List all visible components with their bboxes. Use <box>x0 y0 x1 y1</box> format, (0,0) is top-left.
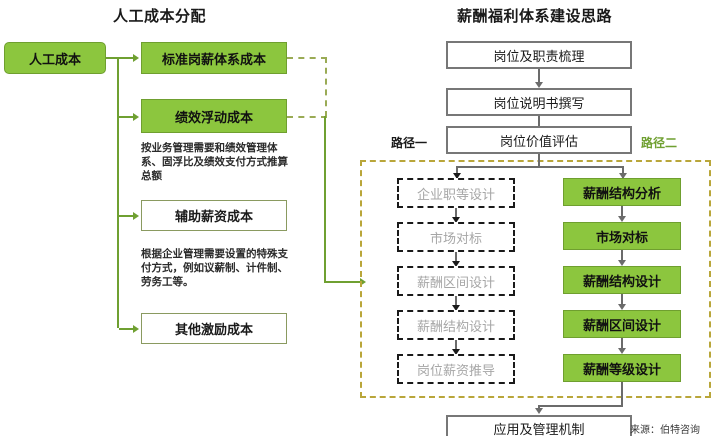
node-other-incentive-cost[interactable]: 其他激励成本 <box>141 313 287 344</box>
label-path-two: 路径二 <box>641 134 677 151</box>
bridge-solid-horizontal <box>324 281 362 283</box>
node-p2-salary-range-design[interactable]: 薪酬区间设计 <box>563 310 681 338</box>
bridge-dash-top <box>287 57 327 59</box>
node-p1-enterprise-grade-design[interactable]: 企业职等设计 <box>397 178 515 208</box>
node-p1-salary-structure-design[interactable]: 薪酬结构设计 <box>397 310 515 340</box>
arrow-right-icon <box>133 113 139 121</box>
node-p1-market-benchmark[interactable]: 市场对标 <box>397 222 515 252</box>
node-p2-salary-structure-analysis[interactable]: 薪酬结构分析 <box>563 178 681 206</box>
node-auxiliary-salary-cost[interactable]: 辅助薪资成本 <box>141 200 287 231</box>
bridge-dash-vertical <box>325 57 327 117</box>
node-job-value-evaluation[interactable]: 岗位价值评估 <box>446 126 632 154</box>
node-p2-market-benchmark[interactable]: 市场对标 <box>563 222 681 250</box>
arrow-right-icon <box>133 325 139 333</box>
node-job-description-writing[interactable]: 岗位说明书撰写 <box>446 88 632 116</box>
node-p1-salary-range-design[interactable]: 薪酬区间设计 <box>397 266 515 296</box>
arrow-down-icon <box>535 408 543 414</box>
connector-split-bar <box>456 166 624 168</box>
note-performance-cost: 按业务管理需要和绩效管理体系、固浮比及绩效支付方式推算总额 <box>141 141 291 184</box>
arrow-right-icon <box>133 212 139 220</box>
bridge-solid-vertical <box>324 116 326 283</box>
node-application-management-mechanism[interactable]: 应用及管理机制 <box>446 415 632 436</box>
attribution-text: 来源：伯特咨询 <box>630 421 700 436</box>
connector-merge-down <box>621 382 623 406</box>
connector-root-trunk <box>117 57 119 328</box>
node-p2-salary-grade-design[interactable]: 薪酬等级设计 <box>563 354 681 382</box>
node-labor-cost-root[interactable]: 人工成本 <box>4 42 106 74</box>
node-performance-variable-cost[interactable]: 绩效浮动成本 <box>141 99 287 133</box>
connector-merge-left <box>538 405 623 407</box>
note-auxiliary-cost: 根据企业管理需要设置的特殊支付方式，例如议薪制、计件制、劳务工等。 <box>141 247 293 290</box>
label-path-one: 路径一 <box>391 134 427 151</box>
node-standard-post-salary-cost[interactable]: 标准岗薪体系成本 <box>141 42 287 74</box>
node-p2-salary-structure-design[interactable]: 薪酬结构设计 <box>563 266 681 294</box>
node-post-duty-review[interactable]: 岗位及职责梳理 <box>446 41 632 69</box>
diagram-canvas: 人工成本分配 薪酬福利体系建设思路 人工成本 标准岗薪体系成本 绩效浮动成本 按… <box>0 0 713 436</box>
right-panel-title: 薪酬福利体系建设思路 <box>457 5 612 26</box>
arrow-right-icon <box>133 54 139 62</box>
node-p1-post-salary-derivation[interactable]: 岗位薪资推导 <box>397 354 515 384</box>
left-panel-title: 人工成本分配 <box>113 5 206 26</box>
bridge-dash-mid <box>287 116 327 118</box>
